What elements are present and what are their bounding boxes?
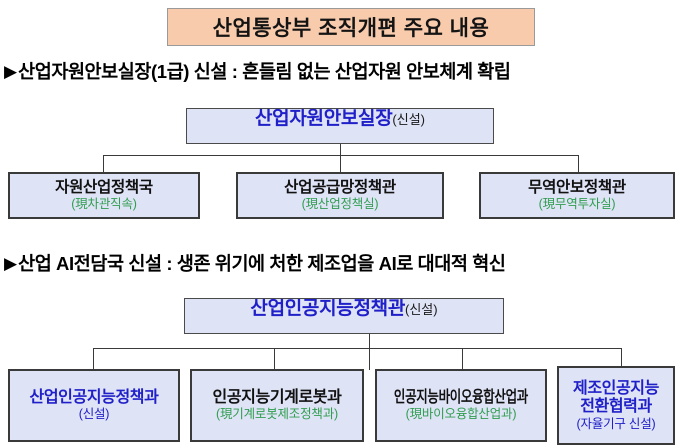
org-node-industrial-resource-security-office[interactable]: 산업자원안보실장 (신설) [186, 108, 494, 144]
connector-drop-1-1 [103, 155, 104, 172]
page-title-banner: 산업통상부 조직개편 주요 내용 [167, 8, 535, 46]
org-node-trade-security-policy-office[interactable]: 무역안보정책관 (現무역투자실) [479, 172, 675, 219]
org-node-manufacturing-ai-transition-cooperation-division[interactable]: 제조인공지능전환협력과 (자율기구 신설) [557, 366, 675, 445]
connector-drop-2-2 [274, 348, 275, 370]
section-heading-2: ▶ 산업 AI전담국 신설 : 생존 위기에 처한 제조업을 AI로 대대적 혁… [4, 250, 680, 276]
org-node-title: 산업인공지능정책관 [250, 299, 405, 319]
section-heading-2-text: 산업 AI전담국 신설 : 생존 위기에 처한 제조업을 AI로 대대적 혁신 [18, 250, 505, 276]
org-node-note: (신설) [405, 303, 438, 317]
connector-drop-1-3 [578, 155, 579, 172]
connector-drop-2-1 [93, 348, 94, 370]
org-node-resource-industry-policy-bureau[interactable]: 자원산업정책국 (現차관직속) [8, 172, 200, 219]
bullet-marker-icon: ▶ [4, 63, 17, 80]
org-node-industrial-ai-policy-division[interactable]: 산업인공지능정책과 (신설) [8, 369, 180, 442]
org-node-ai-bio-convergence-industry-division[interactable]: 인공지능바이오융합산업과 (現바이오융합산업과) [375, 369, 547, 442]
org-node-title: 산업공급망정책관 [284, 180, 396, 196]
org-node-note: (신설) [392, 113, 425, 127]
org-node-note: (現바이오융합산업과) [406, 408, 517, 421]
org-node-industrial-supply-chain-policy-office[interactable]: 산업공급망정책관 (現산업정책실) [236, 172, 444, 219]
org-node-title: 산업인공지능정책과 [30, 390, 159, 407]
connector-bar-1 [103, 155, 578, 156]
org-node-industrial-ai-policy-office[interactable]: 산업인공지능정책관 (신설) [184, 298, 504, 334]
org-node-note: (現무역투자실) [539, 198, 616, 211]
section-heading-1-text: 산업자원안보실장(1급) 신설 : 흔들림 없는 산업자원 안보체계 확립 [18, 58, 510, 84]
connector-drop-2-3 [462, 348, 463, 370]
org-node-note: (現기계로봇제조정책과) [216, 408, 338, 421]
connector-stem-2 [369, 334, 370, 370]
org-node-title: 인공지능기계로봇과 [213, 390, 342, 407]
connector-bar-2 [93, 348, 621, 349]
org-node-title: 제조인공지능전환협력과 [573, 380, 659, 416]
bullet-marker-icon: ▶ [4, 255, 17, 272]
org-node-note: (現차관직속) [71, 198, 136, 211]
org-node-title: 산업자원안보실장 [255, 109, 392, 129]
page-title: 산업통상부 조직개편 주요 내용 [213, 12, 490, 42]
org-node-note: (자율기구 신설) [577, 418, 656, 431]
org-node-note: (신설) [79, 408, 110, 421]
org-node-note: (現산업정책실) [302, 198, 379, 211]
org-node-title: 자원산업정책국 [55, 180, 153, 196]
org-node-title: 무역안보정책관 [528, 180, 626, 196]
org-node-title: 인공지능바이오융합산업과 [394, 390, 528, 407]
section-heading-1: ▶ 산업자원안보실장(1급) 신설 : 흔들림 없는 산업자원 안보체계 확립 [4, 58, 680, 84]
org-node-ai-machinery-robot-division[interactable]: 인공지능기계로봇과 (現기계로봇제조정책과) [190, 369, 364, 442]
